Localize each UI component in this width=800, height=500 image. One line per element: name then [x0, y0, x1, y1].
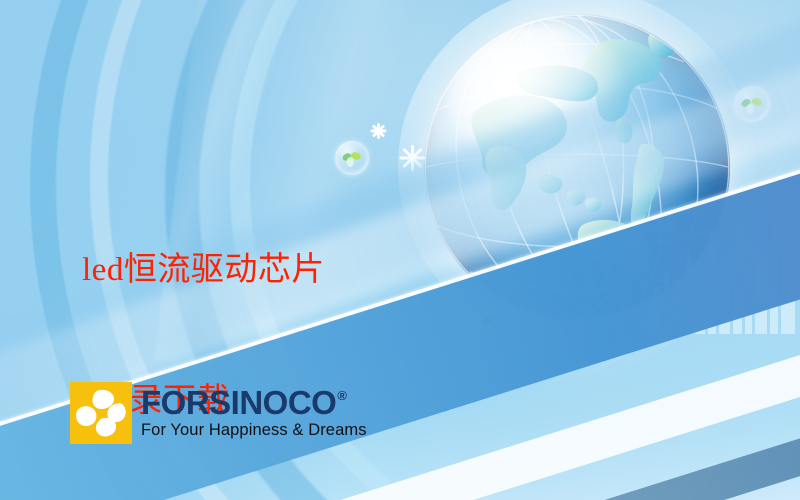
headline-line-1: led恒流驱动芯片 — [82, 249, 462, 293]
brand-name: FORSINOCO — [141, 386, 336, 420]
forsinoco-flower-mark-icon — [70, 382, 132, 444]
brand-name-row: FORSINOCO ® — [141, 386, 367, 420]
page-title: led恒流驱动芯片 目录下载 — [82, 162, 462, 500]
brand-wordmark: FORSINOCO ® For Your Happiness & Dreams — [141, 386, 367, 440]
promo-banner: led恒流驱动芯片 目录下载 FORSINOCO ® For Your Happ… — [0, 0, 800, 500]
brand-tagline: For Your Happiness & Dreams — [141, 421, 367, 440]
registered-trademark-icon: ® — [337, 389, 346, 402]
brand-logo[interactable]: FORSINOCO ® For Your Happiness & Dreams — [70, 382, 367, 444]
sparkle-burst-small-icon — [370, 122, 387, 139]
